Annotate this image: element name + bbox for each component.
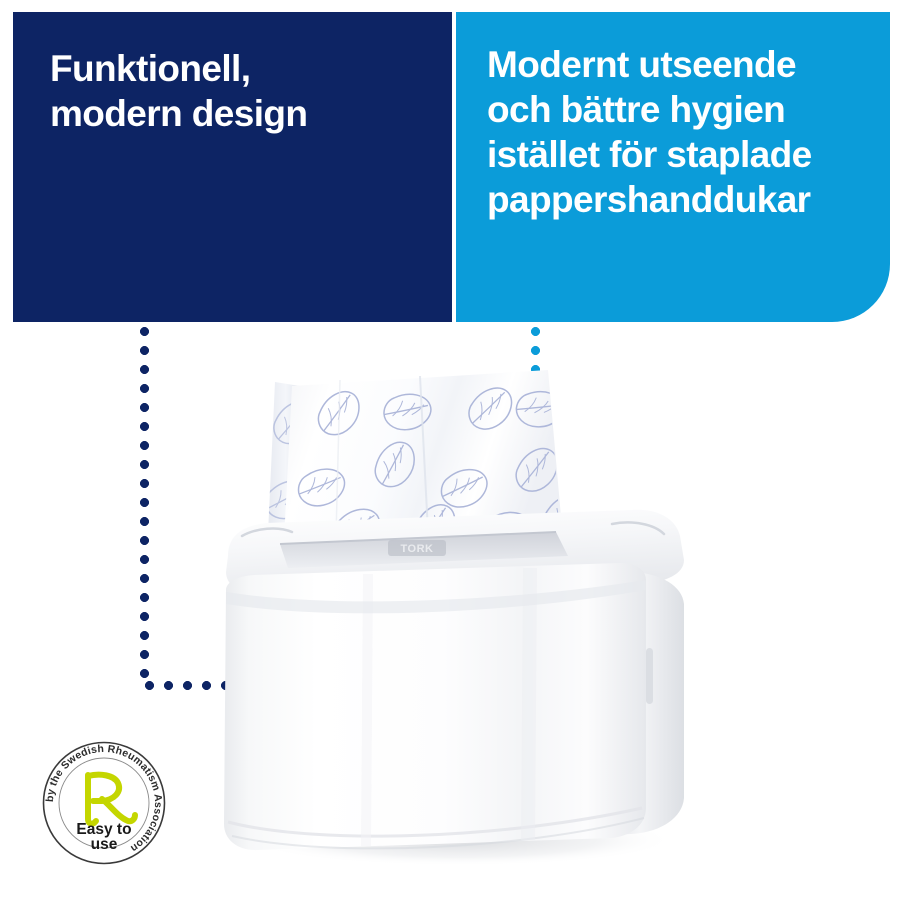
callout-panel-right: Modernt utseende och bättre hygien istäl… bbox=[456, 12, 890, 322]
tork-brand-logo: TORK bbox=[388, 540, 446, 556]
dispenser-body bbox=[224, 563, 684, 850]
product-feature-graphic: Funktionell, modern design Modernt utsee… bbox=[0, 0, 903, 903]
tork-logo-text: TORK bbox=[401, 543, 434, 555]
product-image-dispenser: TORK bbox=[180, 360, 720, 870]
callout-left-text: Funktionell, modern design bbox=[50, 46, 424, 136]
callout-right-text: Modernt utseende och bättre hygien istäl… bbox=[487, 42, 870, 222]
callout-panel-left: Funktionell, modern design bbox=[13, 12, 452, 322]
connector-dotted-line-left-vertical bbox=[140, 322, 149, 685]
approval-badge: Approved by the Swedish Rheumatism Assoc… bbox=[36, 735, 172, 871]
badge-center-line-2: use bbox=[91, 836, 118, 853]
dispenser-side-latch bbox=[646, 648, 653, 704]
